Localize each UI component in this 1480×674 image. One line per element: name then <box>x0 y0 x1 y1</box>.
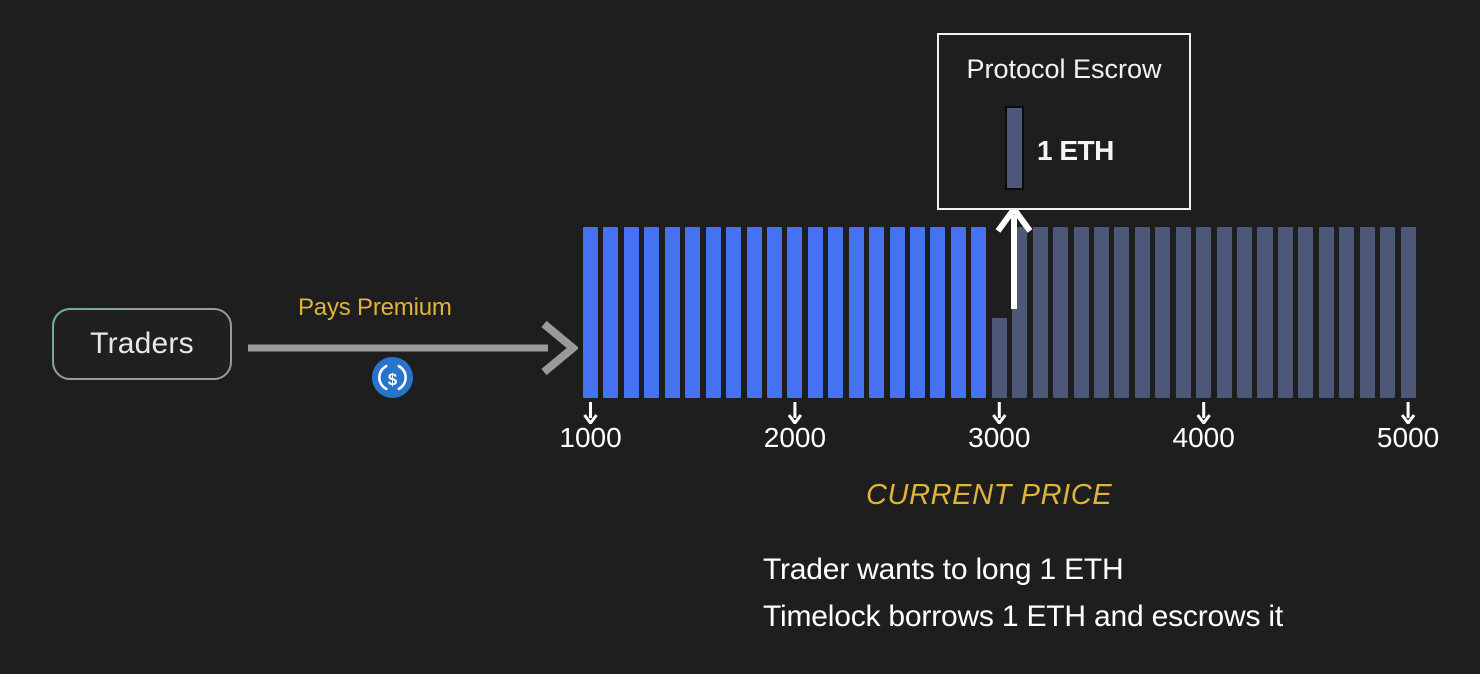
diagram-canvas: Traders Pays Premium $ 10002000300040005… <box>0 0 1480 674</box>
escrow-amount-label: 1 ETH <box>1037 135 1114 167</box>
liquidity-bar <box>787 227 802 398</box>
protocol-escrow-box[interactable]: Protocol Escrow 1 ETH <box>937 33 1191 210</box>
liquidity-bar <box>890 227 905 398</box>
liquidity-bar <box>1196 227 1211 398</box>
current-price-caption: CURRENT PRICE <box>866 479 1112 512</box>
liquidity-bar <box>1298 227 1313 398</box>
axis-tick-label: 2000 <box>764 422 826 454</box>
liquidity-bar <box>583 227 598 398</box>
escrow-title: Protocol Escrow <box>939 54 1189 85</box>
liquidity-bar <box>706 227 721 398</box>
caption-line: Trader wants to long 1 ETH <box>763 546 1283 593</box>
liquidity-bar <box>685 227 700 398</box>
liquidity-bar <box>1217 227 1232 398</box>
liquidity-bar <box>1319 227 1334 398</box>
svg-text:$: $ <box>388 370 397 389</box>
caption-line: Timelock borrows 1 ETH and escrows it <box>763 593 1283 640</box>
liquidity-bar <box>726 227 741 398</box>
traders-label: Traders <box>90 327 194 361</box>
axis-tick-label: 3000 <box>968 422 1030 454</box>
arrow-down-icon <box>789 402 801 423</box>
liquidity-bar <box>603 227 618 398</box>
liquidity-bar <box>1176 227 1191 398</box>
liquidity-bar <box>1278 227 1293 398</box>
liquidity-bar <box>1237 227 1252 398</box>
liquidity-bar <box>869 227 884 398</box>
liquidity-bar <box>1053 227 1068 398</box>
liquidity-bar <box>1094 227 1109 398</box>
arrow-up-icon <box>992 203 1036 311</box>
liquidity-bar <box>1074 227 1089 398</box>
liquidity-bar <box>1380 227 1395 398</box>
liquidity-bar <box>665 227 680 398</box>
traders-node[interactable]: Traders <box>52 308 232 380</box>
liquidity-bar <box>930 227 945 398</box>
liquidity-bar <box>849 227 864 398</box>
liquidity-bar <box>992 318 1007 398</box>
axis-tick-arrows <box>583 402 1421 424</box>
liquidity-bar <box>747 227 762 398</box>
arrow-down-icon <box>1198 402 1210 423</box>
arrow-down-icon <box>585 402 597 423</box>
liquidity-bar <box>644 227 659 398</box>
arrow-down-icon <box>993 402 1005 423</box>
liquidity-bar <box>1135 227 1150 398</box>
liquidity-bar <box>1401 227 1416 398</box>
liquidity-bar <box>951 227 966 398</box>
escrow-eth-bar <box>1005 106 1024 190</box>
liquidity-bar <box>808 227 823 398</box>
liquidity-bar <box>828 227 843 398</box>
axis-tick-label: 5000 <box>1377 422 1439 454</box>
liquidity-bar <box>767 227 782 398</box>
liquidity-bar <box>1114 227 1129 398</box>
liquidity-bar <box>1339 227 1354 398</box>
axis-tick-label: 1000 <box>559 422 621 454</box>
liquidity-bar <box>971 227 986 398</box>
caption-block: Trader wants to long 1 ETHTimelock borro… <box>763 546 1283 640</box>
liquidity-bar <box>910 227 925 398</box>
liquidity-bar <box>1155 227 1170 398</box>
liquidity-bar <box>1257 227 1272 398</box>
axis-tick-label: 4000 <box>1173 422 1235 454</box>
liquidity-bar <box>1360 227 1375 398</box>
liquidity-bar <box>624 227 639 398</box>
arrow-down-icon <box>1402 402 1414 423</box>
usdc-icon: $ <box>371 356 414 399</box>
